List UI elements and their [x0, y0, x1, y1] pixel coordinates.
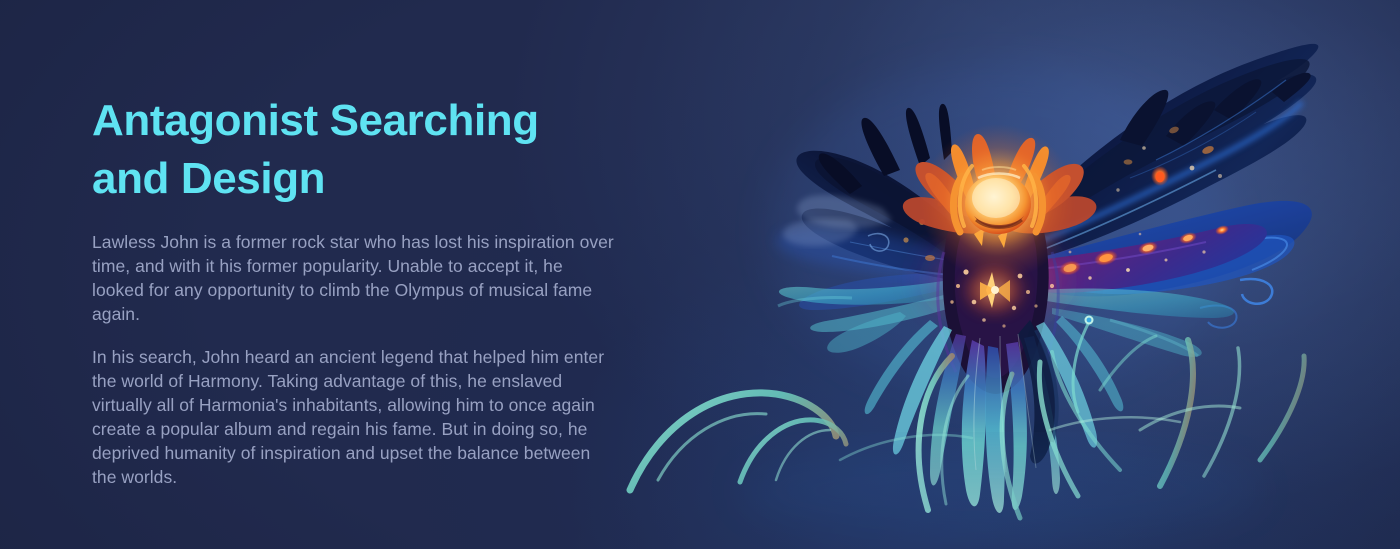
creature-core — [920, 124, 1076, 280]
antagonist-creature-illustration — [600, 0, 1400, 549]
page-title: Antagonist Searching and Design — [92, 92, 612, 208]
hero-section: Antagonist Searching and Design Lawless … — [0, 0, 1400, 549]
body-paragraph-2: In his search, John heard an ancient leg… — [92, 345, 614, 489]
body-paragraph-1: Lawless John is a former rock star who h… — [92, 230, 614, 326]
text-column: Antagonist Searching and Design Lawless … — [92, 0, 622, 549]
